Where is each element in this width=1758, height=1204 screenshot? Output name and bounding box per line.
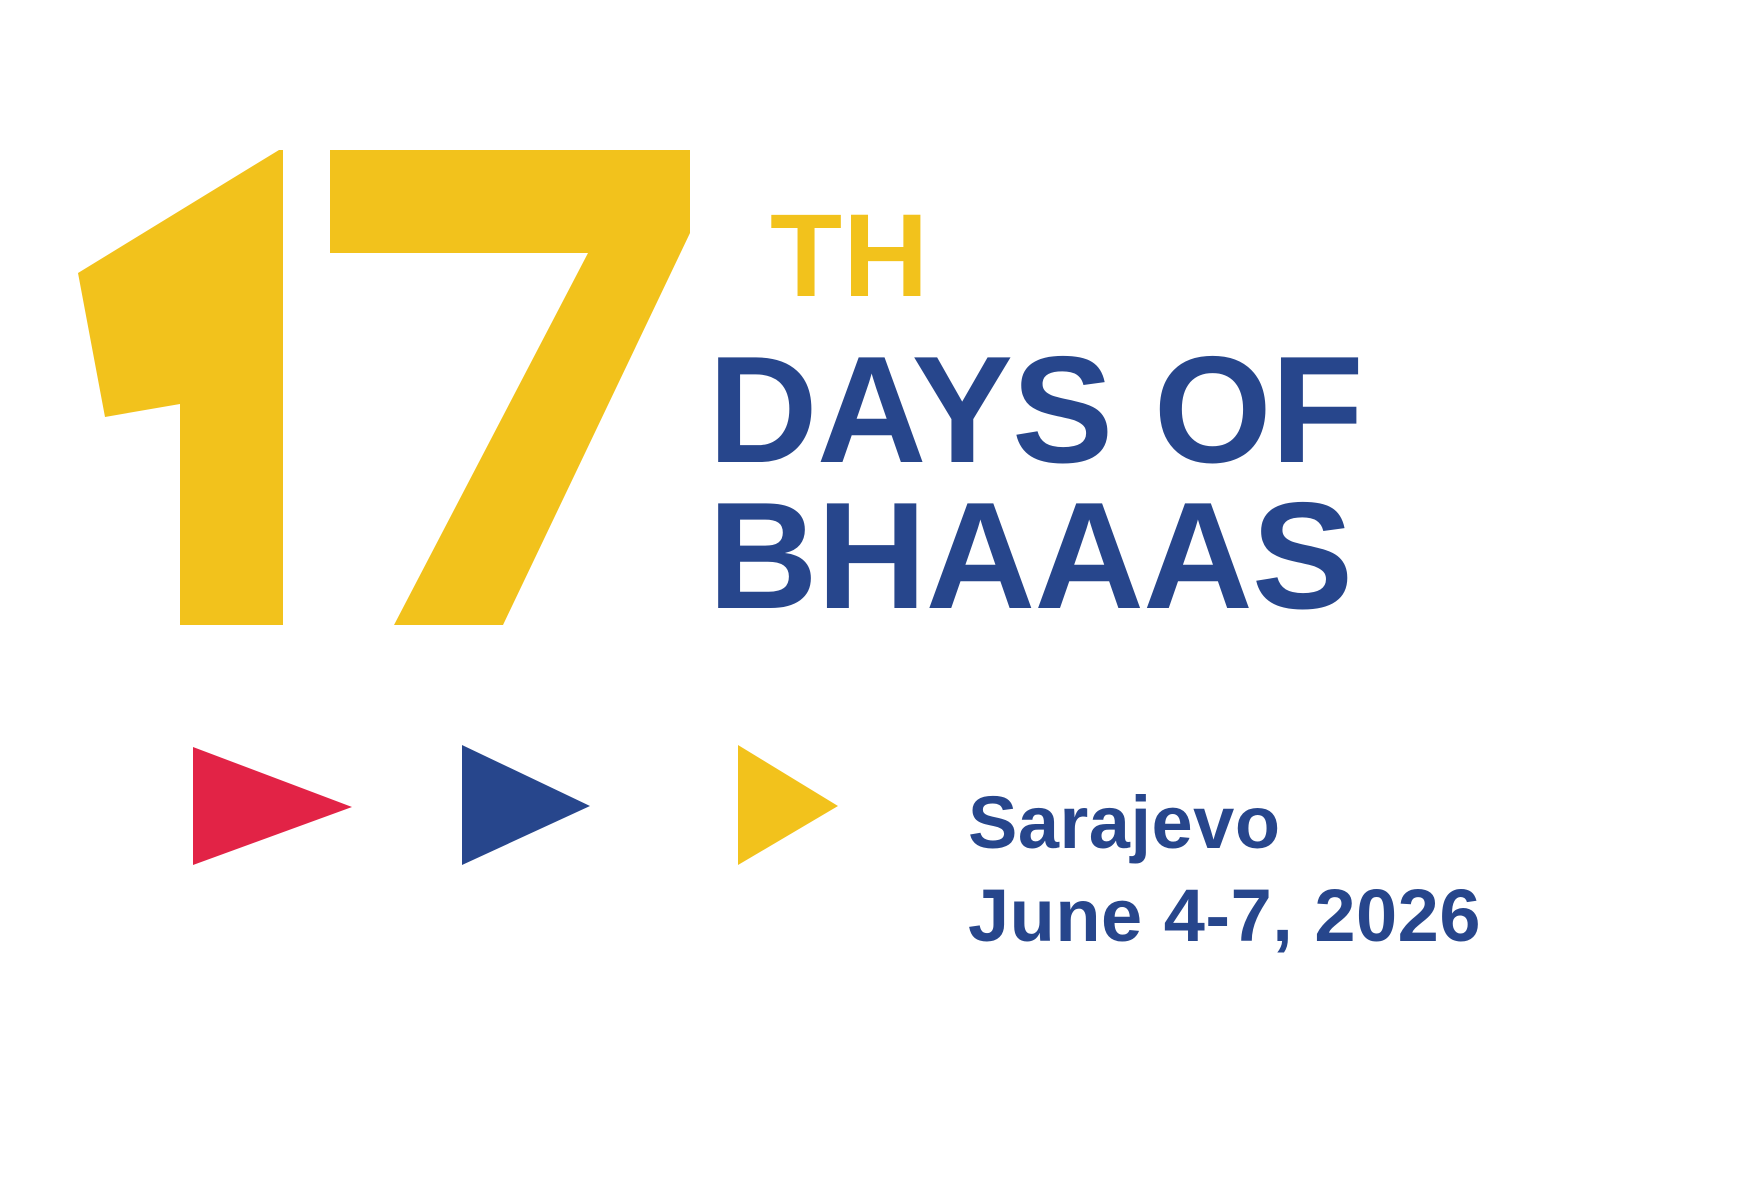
bhaaas-logo-canvas: 17 TH DAYS OF BHAAAS Sarajevo June 4-7, …	[0, 0, 1758, 1204]
ordinal-suffix-text: TH	[770, 190, 929, 322]
wordmark-line-2: BHAAAS	[708, 471, 1352, 641]
logo-artwork: 17 TH DAYS OF BHAAAS Sarajevo June 4-7, …	[0, 0, 1758, 1204]
arrow-red-icon	[193, 747, 352, 865]
venue-city-text: Sarajevo	[968, 781, 1281, 864]
wordmark-line-1: DAYS OF	[708, 325, 1363, 495]
arrow-blue-icon	[462, 745, 590, 865]
venue-dates-text: June 4-7, 2026	[968, 874, 1481, 957]
arrow-yellow-icon	[738, 745, 838, 865]
